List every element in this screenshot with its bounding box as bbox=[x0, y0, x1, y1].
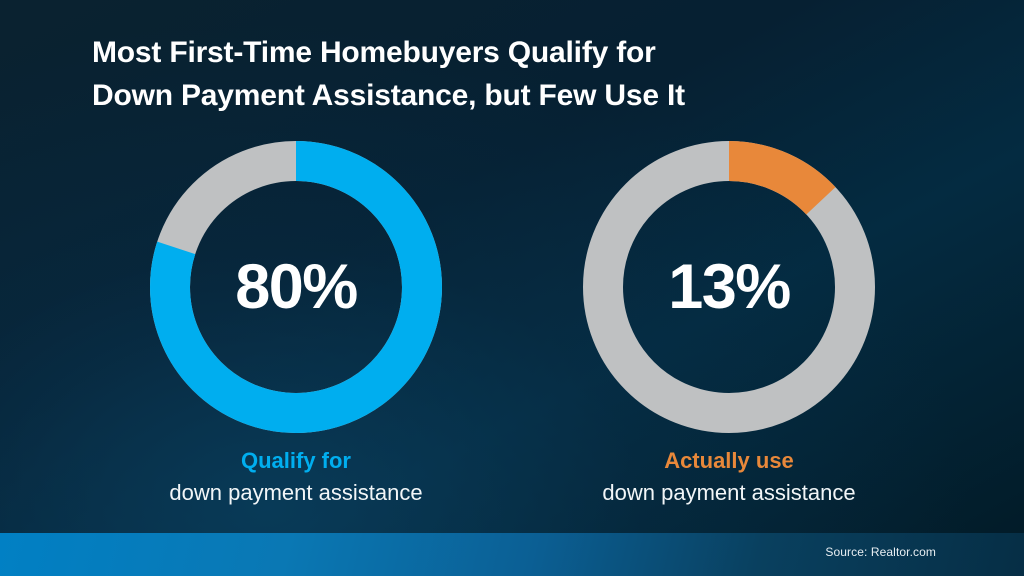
infographic-slide: Most First-Time Homebuyers Qualify for D… bbox=[0, 0, 1024, 576]
chart-caption-qualify: Qualify for down payment assistance bbox=[86, 447, 506, 507]
source-attribution: Source: Realtor.com bbox=[825, 545, 936, 559]
donut-svg-actually-use bbox=[583, 141, 875, 433]
caption-subtext-actually-use: down payment assistance bbox=[519, 479, 939, 507]
donut-chart-group: 80% 13% bbox=[0, 141, 1024, 451]
caption-headline-actually-use: Actually use bbox=[519, 447, 939, 475]
page-title: Most First-Time Homebuyers Qualify for D… bbox=[92, 32, 892, 117]
chart-caption-actually-use: Actually use down payment assistance bbox=[519, 447, 939, 507]
donut-chart-actually-use: 13% bbox=[583, 141, 875, 433]
donut-chart-qualify: 80% bbox=[150, 141, 442, 433]
caption-subtext-qualify: down payment assistance bbox=[86, 479, 506, 507]
caption-headline-qualify: Qualify for bbox=[86, 447, 506, 475]
donut-svg-qualify bbox=[150, 141, 442, 433]
footer-bar: Source: Realtor.com bbox=[0, 533, 1024, 576]
